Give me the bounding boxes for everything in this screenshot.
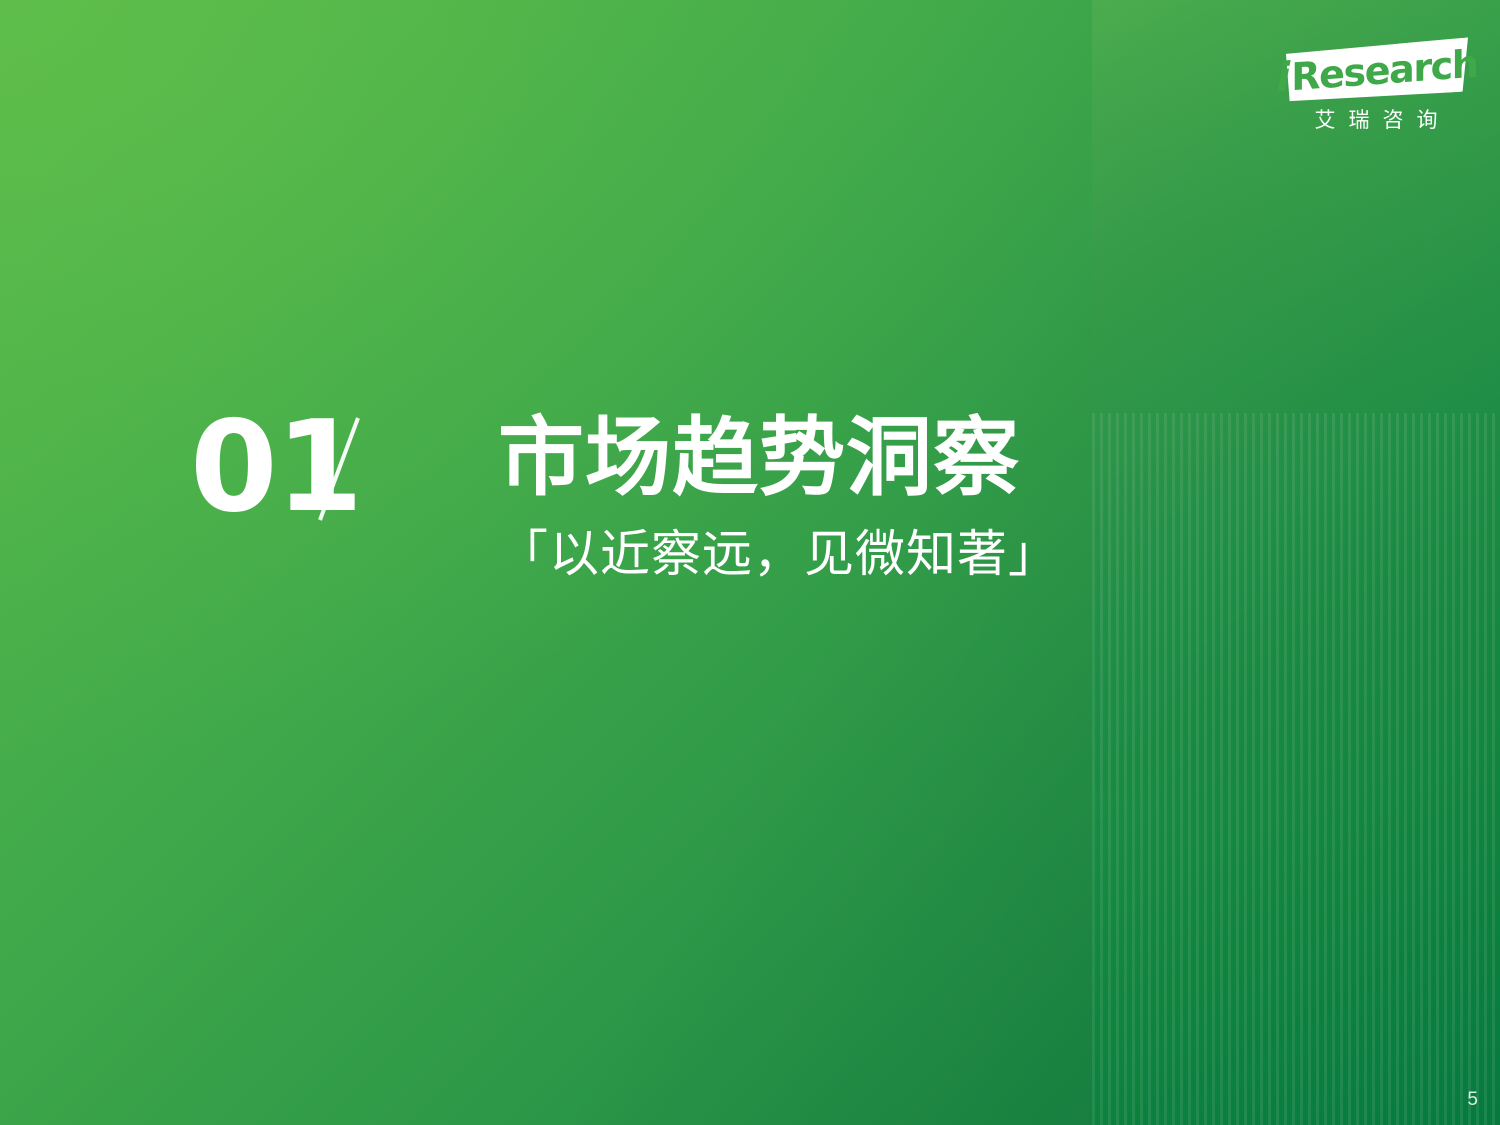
logo-wordmark: i Research xyxy=(1286,37,1468,104)
headline-block: 01 市场趋势洞察 「以近察远，见微知著」 xyxy=(190,404,1090,644)
logo-research-text: Research xyxy=(1291,45,1477,97)
logo-chinese-text: 艾瑞咨询 xyxy=(1278,104,1474,134)
right-decor-panel xyxy=(1092,0,1500,1125)
iresearch-logo: i Research 艾瑞咨询 xyxy=(1278,38,1478,143)
title-block: 市场趋势洞察 「以近察远，见微知著」 xyxy=(498,412,1058,582)
page-number: 5 xyxy=(1467,1089,1478,1111)
slide-canvas: i Research 艾瑞咨询 01 市场趋势洞察 「以近察远，见微知著」 5 xyxy=(0,0,1500,1125)
section-divider-slash-icon xyxy=(312,414,366,524)
logo-i-letter: i xyxy=(1277,57,1290,98)
section-subtitle: 「以近察远，见微知著」 xyxy=(498,527,1058,582)
vertical-pinstripes xyxy=(1092,413,1500,1125)
section-title: 市场趋势洞察 xyxy=(498,412,1058,505)
